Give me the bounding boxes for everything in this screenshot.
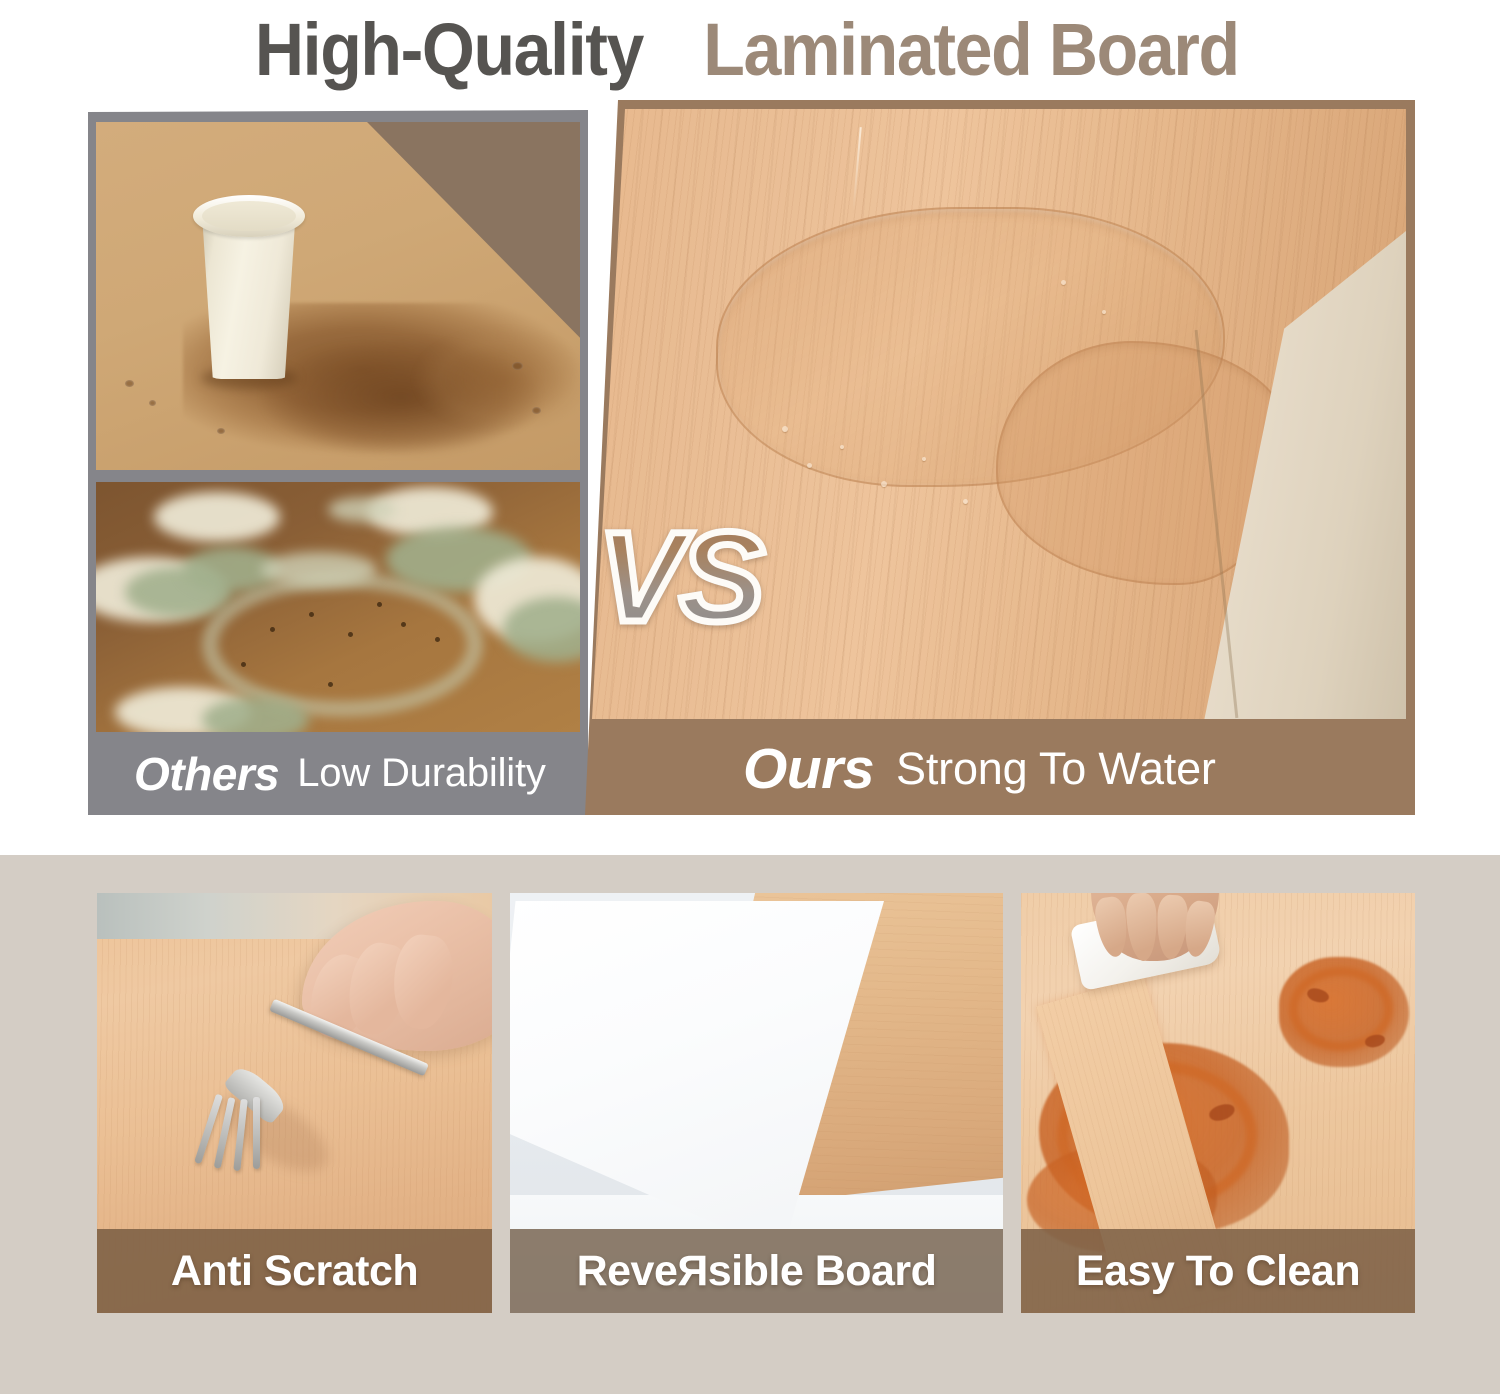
features-section: Anti Scratch ReveЯsible Board <box>0 855 1500 1394</box>
finger <box>389 932 457 1032</box>
mold-patch <box>261 552 377 587</box>
others-claim: Low Durability <box>297 751 545 796</box>
feature-caption-easy-to-clean: Easy To Clean <box>1021 1229 1415 1313</box>
coffee-droplet <box>125 380 134 387</box>
water-bead <box>840 445 844 449</box>
page-title: High-Quality Laminated Board <box>0 0 1500 100</box>
feature-caption-reversible-board: ReveЯsible Board <box>510 1229 1003 1313</box>
mold-spot <box>435 637 440 642</box>
water-bead <box>881 481 887 487</box>
coffee-droplet <box>149 400 156 406</box>
mold-patch <box>154 492 280 542</box>
fork-tine <box>253 1097 260 1169</box>
ours-claim: Strong To Water <box>896 743 1216 795</box>
hand <box>1091 893 1219 961</box>
coffee-stain-spread <box>396 317 580 456</box>
paper-cup <box>193 181 305 381</box>
comparison-section: Others Low Durability Ours Strong To Wat… <box>0 100 1500 840</box>
finger <box>1155 894 1188 959</box>
page-title-part-1: High-Quality <box>255 13 643 87</box>
water-bead <box>1061 280 1066 285</box>
mold-spot <box>401 622 406 627</box>
feature-card-anti-scratch: Anti Scratch <box>97 893 492 1313</box>
page-title-part-2: Laminated Board <box>703 13 1238 87</box>
others-mold-photo <box>96 482 580 732</box>
water-bead <box>922 457 926 461</box>
ours-panel: Ours Strong To Water <box>585 100 1415 815</box>
others-spill-photo <box>96 122 580 470</box>
feature-row: Anti Scratch ReveЯsible Board <box>97 893 1415 1313</box>
mold-patch <box>328 497 396 522</box>
feature-card-reversible-board: ReveЯsible Board <box>510 893 1003 1313</box>
others-label-bar: Others Low Durability <box>88 732 588 815</box>
others-panel: Others Low Durability <box>88 110 588 815</box>
ours-name: Ours <box>743 736 874 802</box>
others-name: Others <box>134 747 279 801</box>
ours-label-bar: Ours Strong To Water <box>585 723 1415 815</box>
finger <box>1125 893 1159 962</box>
water-bead <box>807 463 812 468</box>
vs-badge: VS <box>598 514 761 642</box>
mold-spot <box>348 632 353 637</box>
mold-spot <box>377 602 382 607</box>
cup-interior <box>202 201 296 231</box>
mold-spot <box>309 612 314 617</box>
mold-ring <box>202 572 483 717</box>
feature-card-easy-to-clean: Easy To Clean <box>1021 893 1415 1313</box>
feature-caption-anti-scratch: Anti Scratch <box>97 1229 492 1313</box>
